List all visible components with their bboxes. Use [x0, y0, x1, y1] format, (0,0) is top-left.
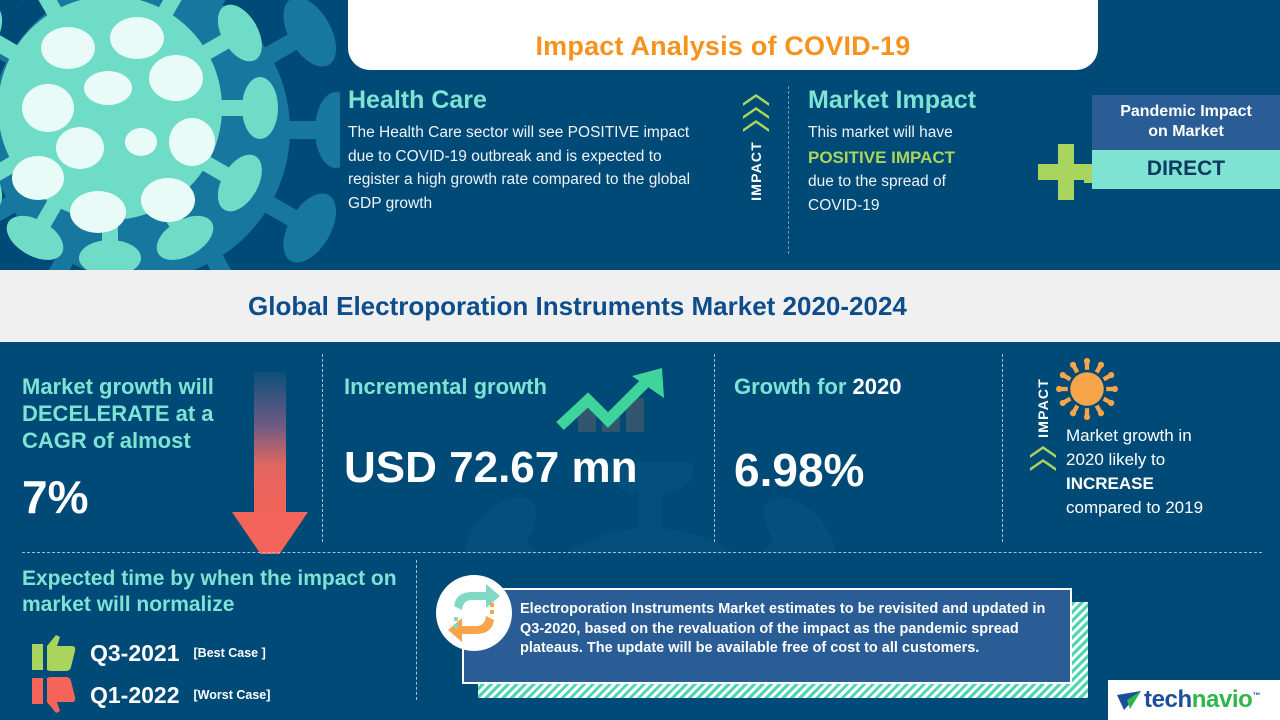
pandemic-heading-line1: Pandemic Impact [1120, 103, 1252, 120]
market-impact-line1: This market will have [808, 124, 953, 141]
market-impact-heading: Market Impact [808, 86, 1058, 115]
horizontal-divider [22, 552, 1262, 553]
virus-orange-icon [1056, 358, 1118, 420]
case-label: [Best Case ] [194, 646, 266, 660]
page-title: Impact Analysis of COVID-19 [535, 31, 910, 62]
stats-divider-2 [714, 354, 715, 542]
impact-right-line2: 2020 likely to [1066, 450, 1165, 469]
chevron-up-icon [1030, 459, 1056, 471]
case-label: [Worst Case] [194, 688, 271, 702]
impact-label: IMPACT [748, 141, 764, 201]
normalize-title: Expected time by when the impact on mark… [22, 566, 422, 617]
chevron-up-icon [743, 120, 769, 132]
impact-right-line1: Market growth in [1066, 426, 1192, 445]
case-row-best: Q3-2021 [Best Case ] [32, 634, 266, 672]
note-box: Electroporation Instruments Market estim… [462, 588, 1072, 684]
stats-divider-3 [1002, 354, 1003, 542]
logo-arrow-icon [1116, 688, 1142, 712]
note-text: Electroporation Instruments Market estim… [520, 600, 1056, 659]
market-impact-line4: COVID-19 [808, 197, 880, 214]
pandemic-heading-line2: on Market [1148, 123, 1224, 140]
virus-illustration-icon [0, 0, 340, 270]
stat-cagr-value: 7% [22, 470, 222, 524]
technavio-logo: technavio™ [1108, 680, 1280, 720]
infographic-page: Impact Analysis of COVID-19 Health Care … [0, 0, 1280, 720]
stat-growth-value: 6.98% [734, 443, 1004, 497]
stat-growth-label: Growth for 2020 [734, 374, 1004, 401]
stat-cagr: Market growth will DECELERATE at a CAGR … [22, 342, 222, 554]
health-care-body: The Health Care sector will see POSITIVE… [348, 121, 708, 215]
market-impact-line3: due to the spread of [808, 173, 946, 190]
title-banner: Impact Analysis of COVID-19 [348, 0, 1098, 70]
chevron-up-stack-right [1030, 446, 1056, 471]
chevron-up-icon [743, 94, 769, 106]
arrow-down-icon [228, 372, 312, 554]
refresh-icon [434, 573, 514, 653]
logo-trademark: ™ [1252, 691, 1260, 700]
stat-growth-2020: Growth for 2020 6.98% [734, 342, 1004, 554]
market-title: Global Electroporation Instruments Marke… [248, 291, 907, 322]
logo-text-navio: navio [1192, 686, 1253, 713]
stat-growth-label-year: 2020 [853, 374, 902, 399]
case-quarter: Q3-2021 [90, 640, 180, 667]
chevron-up-icon [743, 107, 769, 119]
market-impact-column: Market Impact This market will have POSI… [808, 86, 1058, 217]
growth-arrow-icon [554, 364, 670, 434]
impact-indicator-header: IMPACT [726, 94, 786, 254]
chevron-up-icon [1030, 446, 1056, 458]
header-band: Impact Analysis of COVID-19 Health Care … [0, 0, 1280, 270]
health-care-heading: Health Care [348, 86, 708, 115]
market-impact-line2: POSITIVE IMPACT [808, 148, 955, 167]
market-title-bar: Global Electroporation Instruments Marke… [0, 270, 1280, 342]
health-care-column: Health Care The Health Care sector will … [348, 86, 708, 215]
impact-right-line4: compared to 2019 [1066, 498, 1203, 517]
pandemic-impact-box: Pandemic Impact on Market DIRECT [1092, 95, 1280, 189]
pandemic-impact-value: DIRECT [1092, 150, 1280, 189]
header-divider [788, 86, 789, 254]
thumbs-up-icon [32, 634, 76, 672]
stats-divider-1 [322, 354, 323, 542]
case-row-worst: Q1-2022 [Worst Case] [32, 676, 270, 714]
case-quarter: Q1-2022 [90, 682, 180, 709]
impact-right-line3: INCREASE [1066, 474, 1154, 493]
impact-label-right: IMPACT [1035, 378, 1051, 438]
chevron-up-stack [743, 94, 769, 132]
impact-text-right: Market growth in 2020 likely to INCREASE… [1066, 424, 1272, 521]
thumbs-down-icon [32, 676, 76, 714]
stat-incremental-value: USD 72.67 mn [344, 443, 644, 493]
pandemic-impact-heading: Pandemic Impact on Market [1092, 95, 1280, 150]
logo-text-tech: tech [1144, 686, 1192, 713]
bottom-divider [416, 560, 417, 700]
stat-cagr-label: Market growth will DECELERATE at a CAGR … [22, 374, 222, 454]
stat-growth-label-prefix: Growth for [734, 374, 853, 399]
